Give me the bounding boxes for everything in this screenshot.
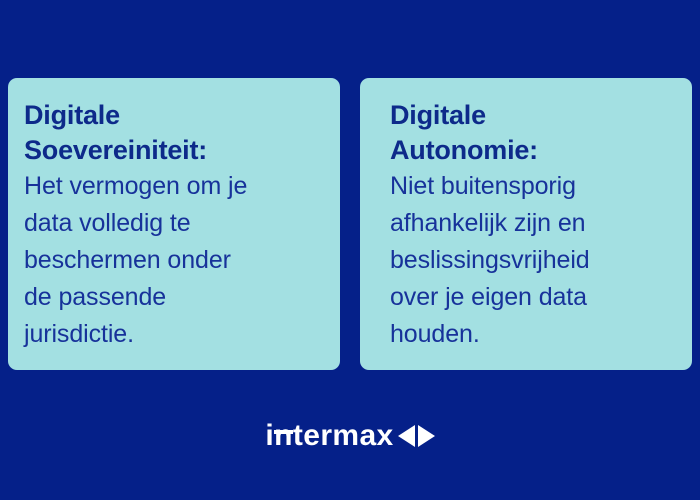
- logo-mark-group: [398, 425, 435, 447]
- card-title: Digitale Soevereiniteit:: [24, 98, 326, 168]
- card-digitale-soevereiniteit: Digitale Soevereiniteit: Het vermogen om…: [8, 78, 340, 370]
- triangle-right-icon: [418, 425, 435, 447]
- card-body-text: Niet buitensporig afhankelijk zijn en be…: [390, 168, 682, 353]
- card-title: Digitale Autonomie:: [390, 98, 682, 168]
- logo-wordmark: intermax: [265, 421, 393, 451]
- card-content: Digitale Autonomie: Niet buitensporig af…: [390, 98, 682, 353]
- triangle-left-icon: [398, 425, 415, 447]
- card-digitale-autonomie: Digitale Autonomie: Niet buitensporig af…: [360, 78, 692, 370]
- intermax-logo: intermax: [0, 415, 700, 457]
- logo-text-after-n: termax: [293, 419, 394, 452]
- card-body-text: Het vermogen om je data volledig te besc…: [24, 168, 326, 353]
- card-content: Digitale Soevereiniteit: Het vermogen om…: [24, 98, 326, 353]
- logo-text-before-n: i: [265, 419, 274, 452]
- slide-canvas: Digitale Soevereiniteit: Het vermogen om…: [0, 0, 700, 500]
- logo-flat-n-glyph: n: [274, 421, 293, 451]
